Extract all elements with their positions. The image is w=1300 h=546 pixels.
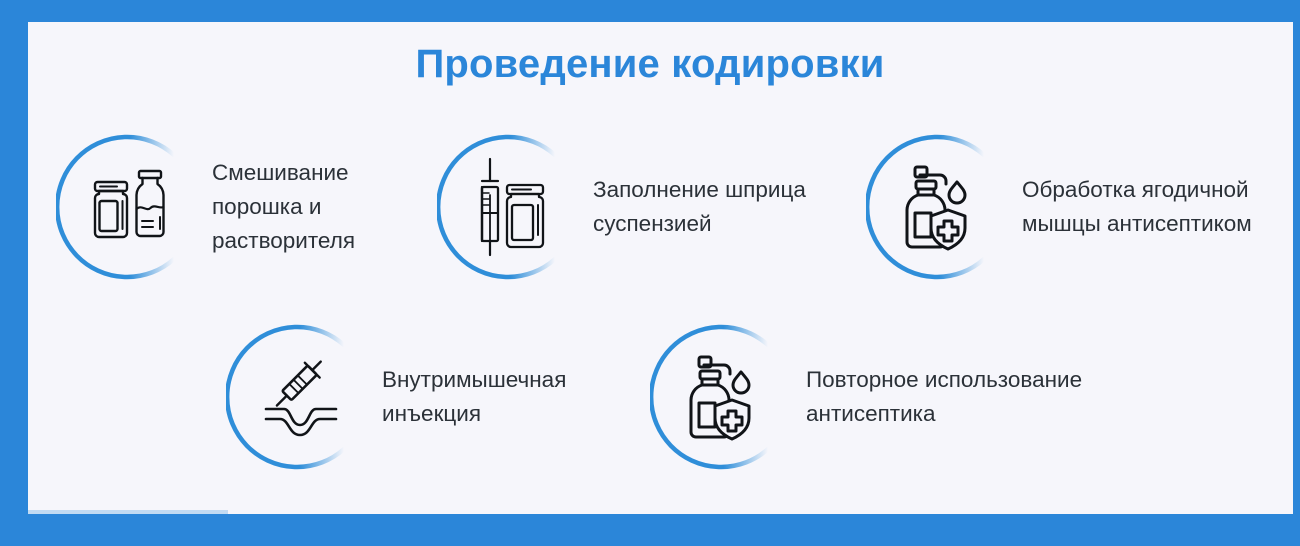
- antiseptic-dispenser-shield-icon: [650, 321, 802, 473]
- step-item-1[interactable]: Смешивание порошка и растворителя: [56, 131, 355, 283]
- intramuscular-injection-icon: [226, 321, 378, 473]
- step-1-label: Смешивание порошка и растворителя: [212, 156, 355, 259]
- step-item-4[interactable]: Внутримышечная инъекция: [226, 321, 566, 473]
- step-5-label: Повторное использование антисептика: [806, 363, 1082, 431]
- step-5-circle: [650, 321, 802, 473]
- step-2-label: Заполнение шприца суспензией: [593, 173, 806, 241]
- step-item-3[interactable]: Обработка ягодичной мышцы антисептиком: [866, 131, 1252, 283]
- step-3-circle: [866, 131, 1018, 283]
- step-1-circle: [56, 131, 208, 283]
- step-4-label: Внутримышечная инъекция: [382, 363, 566, 431]
- step-item-5[interactable]: Повторное использование антисептика: [650, 321, 1082, 473]
- page-title: Проведение кодировки: [0, 42, 1300, 87]
- panel-shadow-strip: [28, 510, 228, 514]
- step-3-label: Обработка ягодичной мышцы антисептиком: [1022, 173, 1252, 241]
- step-4-circle: [226, 321, 378, 473]
- powder-vial-and-solvent-bottle-icon: [56, 131, 208, 283]
- step-item-2[interactable]: Заполнение шприца суспензией: [437, 131, 806, 283]
- syringe-and-vial-icon: [437, 131, 589, 283]
- infographic-canvas: Проведение кодировки: [0, 0, 1300, 546]
- antiseptic-dispenser-shield-icon: [866, 131, 1018, 283]
- step-2-circle: [437, 131, 589, 283]
